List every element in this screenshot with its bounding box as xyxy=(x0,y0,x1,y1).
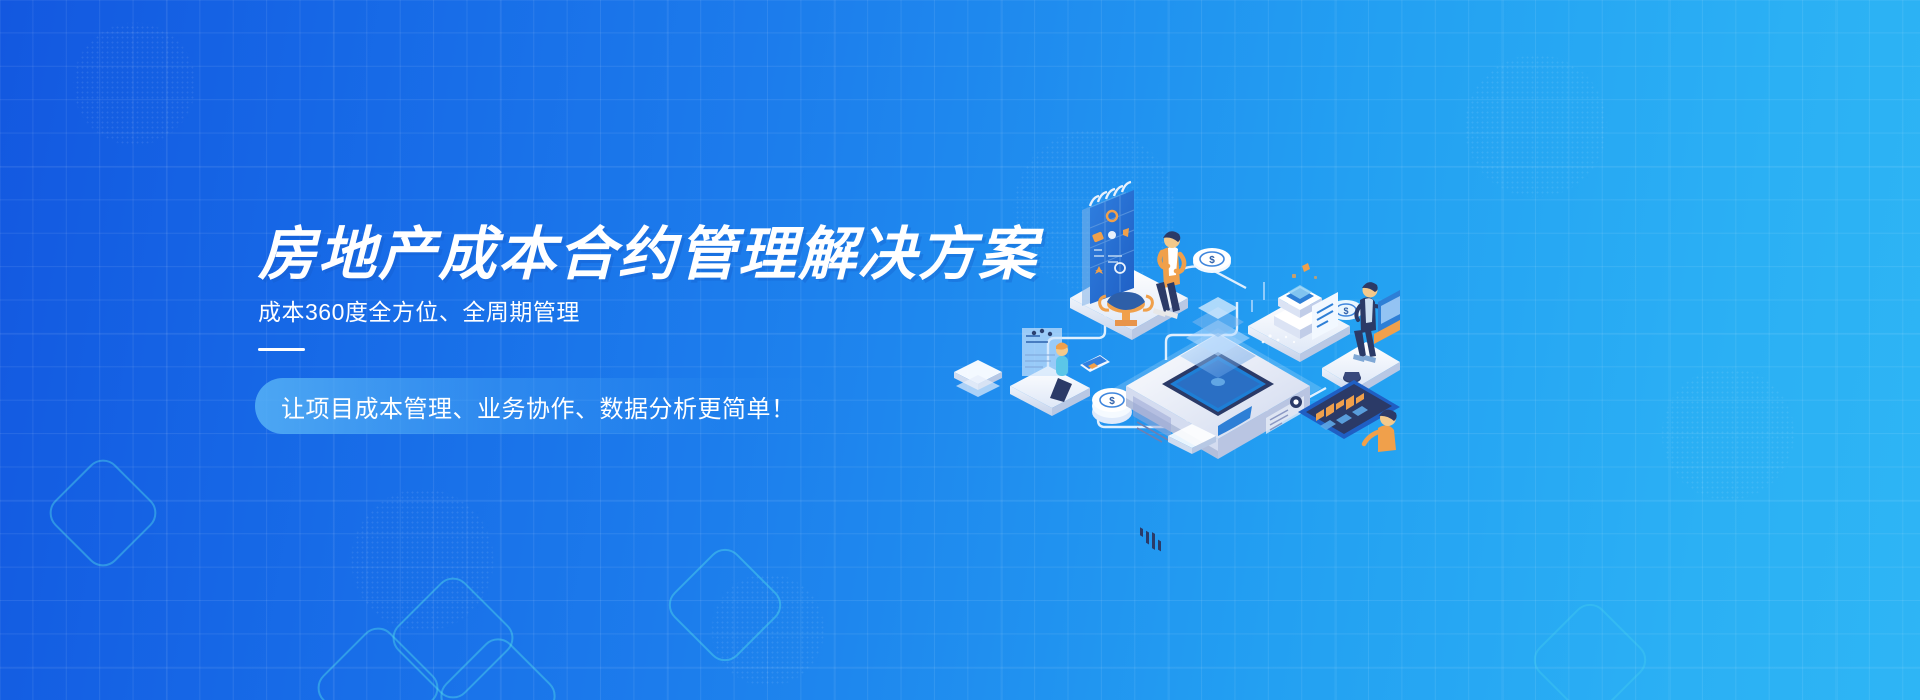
svg-text:$: $ xyxy=(1343,306,1348,316)
laptop-icon xyxy=(1374,290,1400,344)
platform-calendar xyxy=(1070,182,1188,340)
floating-card-stack xyxy=(954,360,1002,397)
tagline-text: 让项目成本管理、业务协作、数据分析更简单！ xyxy=(281,389,796,424)
page-title: 房地产成本合约管理解决方案 xyxy=(258,222,1038,288)
sparkle-particles xyxy=(1292,263,1317,279)
coin-dollar-icon: $ xyxy=(1193,248,1231,273)
page-subtitle: 成本360度全方位、全周期管理 xyxy=(258,296,580,328)
tablet-icon xyxy=(1080,355,1110,372)
svg-text:$: $ xyxy=(1109,396,1115,407)
svg-text:$: $ xyxy=(1209,255,1215,266)
tagline-pill: 让项目成本管理、业务协作、数据分析更简单！ xyxy=(255,378,826,434)
calendar-board-icon xyxy=(1082,182,1134,306)
title-divider xyxy=(258,348,305,351)
hero-illustration: $ $ $ xyxy=(930,150,1400,450)
hero-banner: 房地产成本合约管理解决方案 成本360度全方位、全周期管理 让项目成本管理、业务… xyxy=(0,0,1920,700)
